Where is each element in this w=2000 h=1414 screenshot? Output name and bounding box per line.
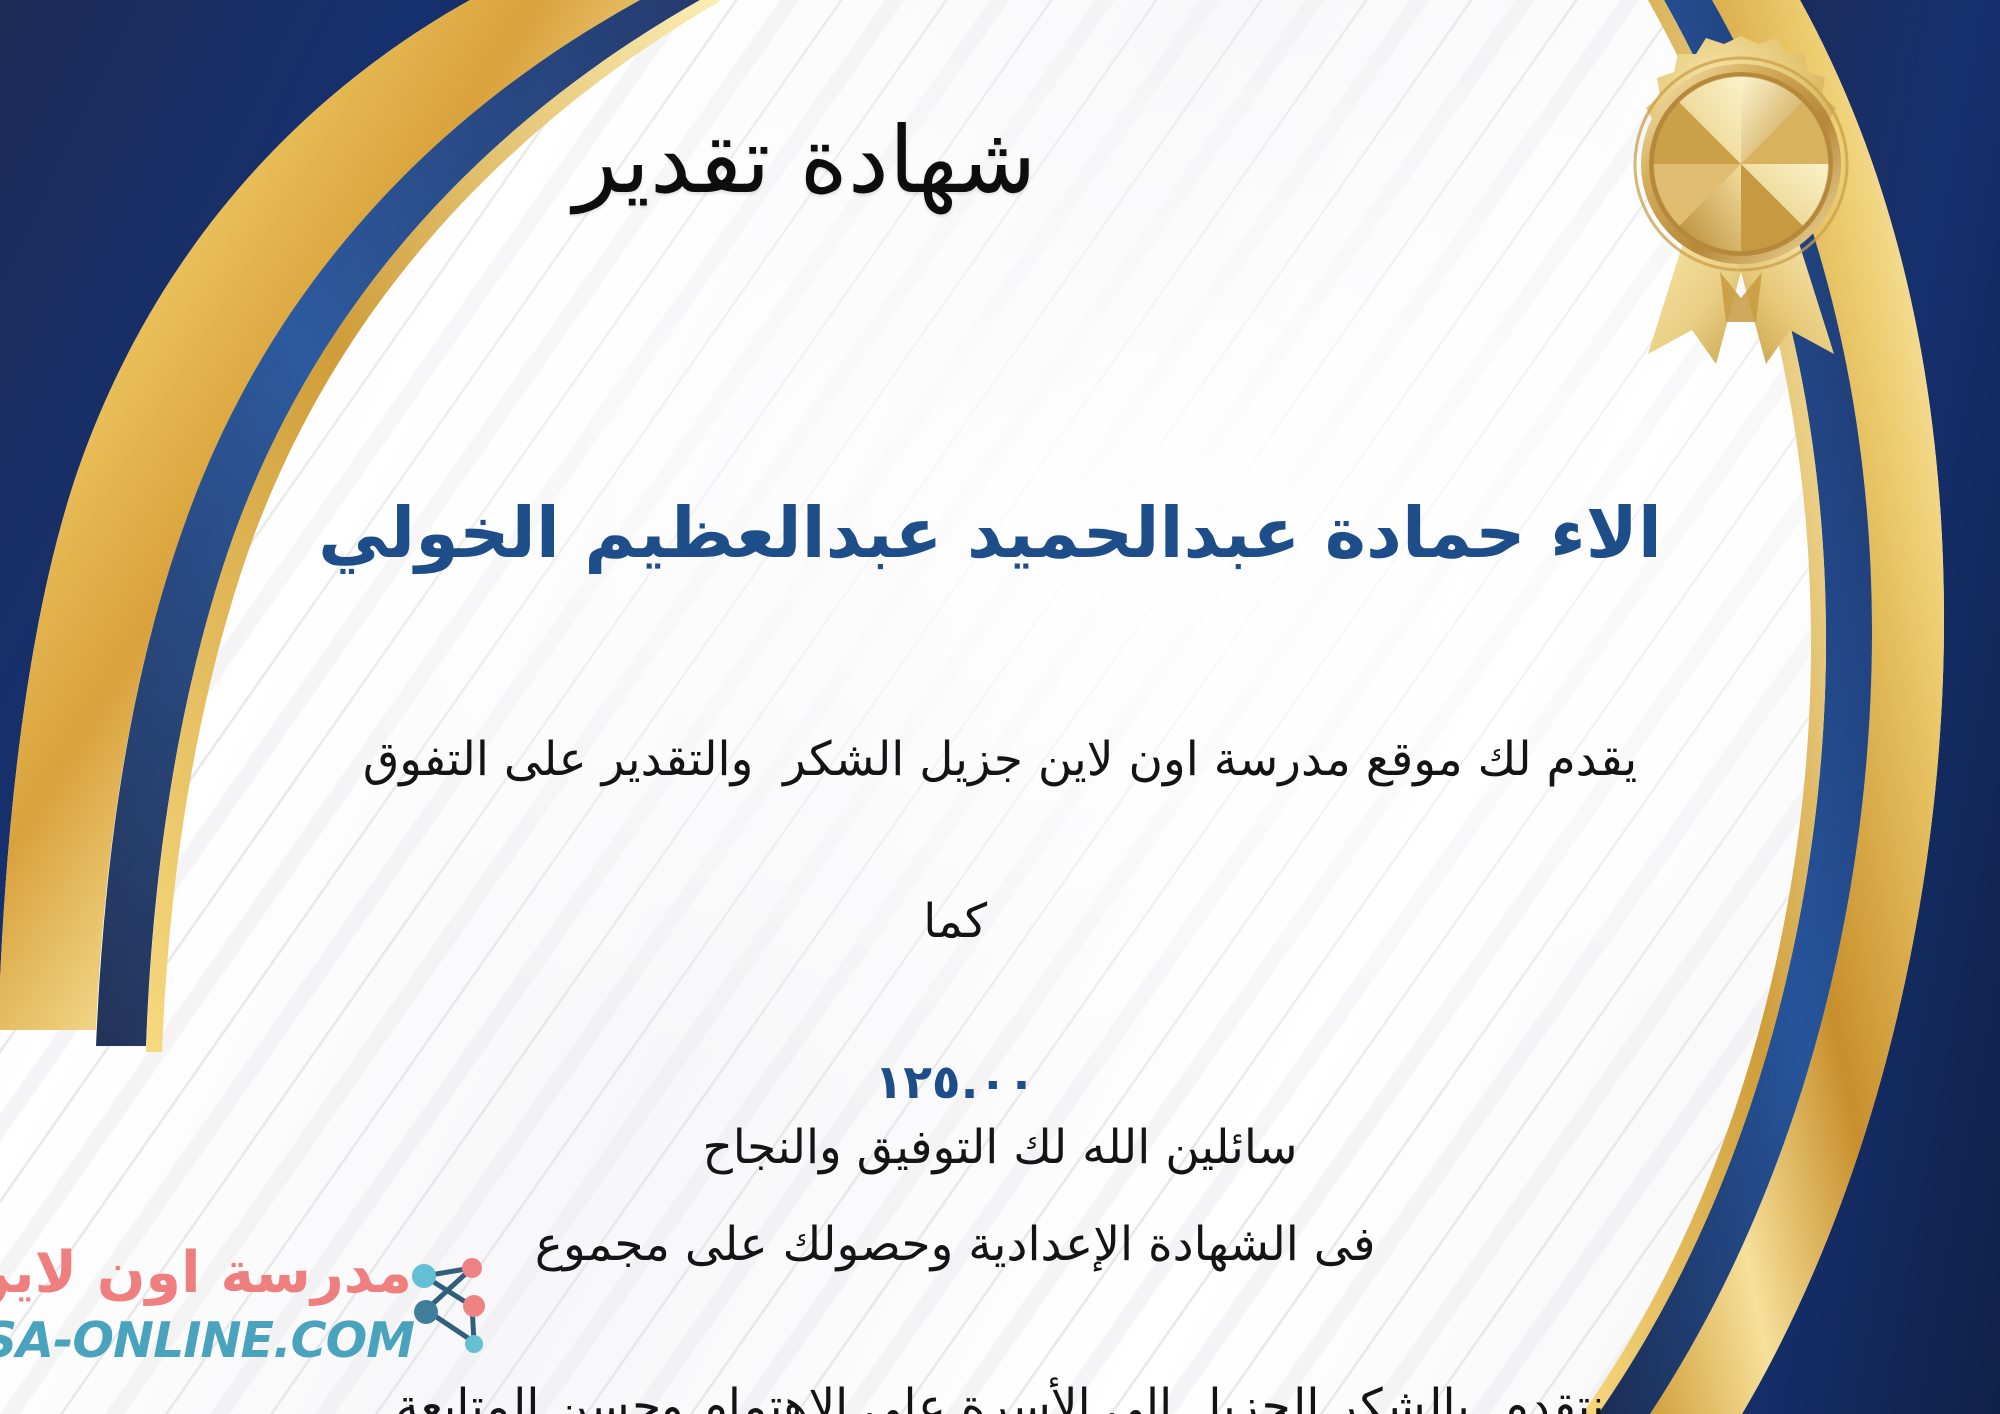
certificate-title: شهادة تقدير xyxy=(0,110,2000,211)
network-nodes-icon xyxy=(406,1246,492,1370)
body-line-1: يقدم لك موقع مدرسة اون لاين جزيل الشكر و… xyxy=(40,720,1960,801)
closing-line: سائلين الله لك التوفيق والنجاح xyxy=(40,1110,1960,1185)
logo-website-url: MADRSA-ONLINE.COM xyxy=(0,1312,414,1369)
site-logo[interactable]: مدرسة اون لاين MADRSA-ONLINE.COM xyxy=(22,1240,492,1390)
recipient-name: الاء حمادة عبدالحميد عبدالعظيم الخولي xyxy=(60,490,1920,578)
body-line-2-prefix: فى الشهادة الإعدادية وحصولك على مجموع xyxy=(535,1217,1376,1272)
body-line-2-suffix: كما xyxy=(923,894,987,949)
score-value: ١٢٥.٠٠ xyxy=(875,1055,1036,1110)
logo-arabic-name: مدرسة اون لاين xyxy=(0,1240,412,1306)
certificate-canvas: شهادة تقدير الاء حمادة عبدالحميد عبدالعظ… xyxy=(0,0,2000,1414)
